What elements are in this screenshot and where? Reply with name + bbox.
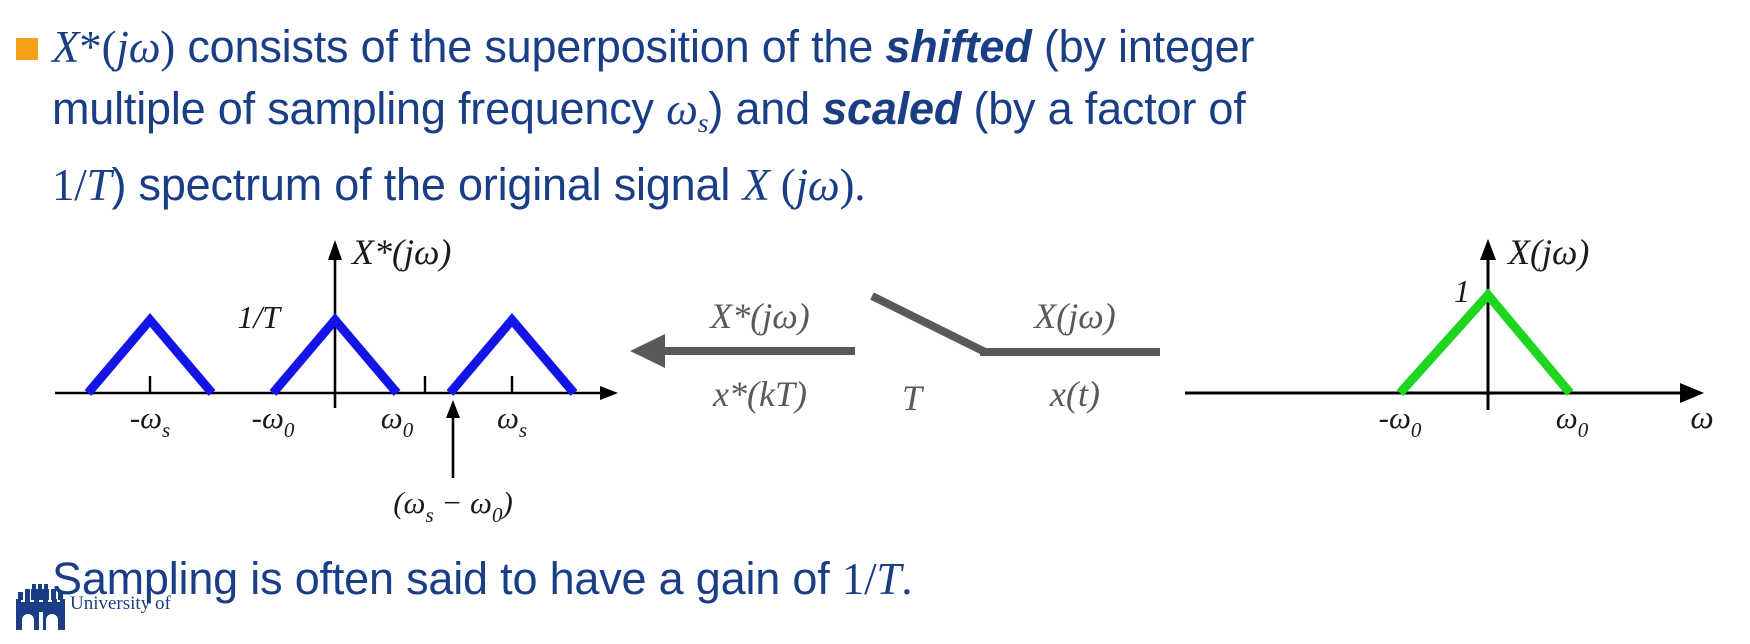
sym-close-paren: ): [160, 22, 175, 72]
sampler-left-arrow-upper-label: X*(jω): [708, 296, 809, 336]
sym-omega-s: ω: [666, 84, 698, 134]
sym-X: X: [742, 160, 769, 210]
sym-close-paren-2: ).: [839, 160, 865, 210]
left-chart-label-minus-w0: -ω0: [252, 400, 295, 442]
text-multiple-of-sampling: multiple of sampling frequency: [52, 83, 666, 134]
right-chart-label-w0: ω0: [1556, 400, 1589, 442]
text-spectrum-original: ) spectrum of the original signal: [111, 159, 742, 210]
right-chart-y-axis-arrowhead: [1480, 239, 1496, 260]
right-chart-peak-label: 1: [1454, 273, 1470, 309]
left-chart-label-w0: ω0: [381, 400, 414, 442]
left-chart-annotation-label: (ωs − ω0): [393, 485, 513, 527]
sym-period: .: [901, 554, 912, 604]
sym-open-paren-2: (: [770, 160, 796, 210]
left-chart-label-minus-ws: -ωs: [130, 400, 170, 442]
text-and: ) and: [708, 83, 822, 134]
sym-T: T: [87, 160, 112, 210]
bullet-marker-icon: [16, 38, 38, 60]
left-chart-axis-title: X*(jω): [350, 232, 451, 272]
university-crest-icon: [12, 578, 72, 638]
bullet-gain: Sampling is often said to have a gain of…: [8, 548, 1738, 610]
right-chart-label-minus-w0: -ω0: [1379, 400, 1422, 442]
sampler-switch-blade: [872, 296, 985, 352]
slide-canvas: X*(jω) consists of the superposition of …: [0, 0, 1750, 644]
left-chart-label-ws: ωs: [497, 400, 527, 442]
sampler-left-arrow-lower-label: x*(kT): [712, 374, 807, 414]
sampler-right-arrow-lower-label: x(t): [1049, 374, 1100, 414]
university-logo: University of: [12, 578, 182, 644]
sym-one-over-2: 1/: [842, 554, 877, 604]
sym-T-2: T: [876, 554, 901, 604]
right-chart-axis-label-omega: ω: [1690, 400, 1713, 436]
bullet-main-line-3: 1/T) spectrum of the original signal X (…: [52, 154, 1738, 216]
text-consists-of: consists of the superposition of the: [175, 21, 885, 72]
sym-omega: ω: [129, 22, 161, 72]
sym-omega-s-subscript: s: [698, 108, 709, 139]
sampler-right-arrow-upper-label: X(jω): [1032, 296, 1115, 336]
text-shifted-emphasis: shifted: [885, 21, 1031, 72]
text-by-integer: (by integer: [1032, 21, 1255, 72]
left-chart-x-axis-arrowhead: [600, 386, 618, 400]
left-chart-y-axis-arrowhead: [328, 240, 342, 260]
chart-original-spectrum: X(jω) 1 -ω0 ω0 ω: [1185, 232, 1714, 442]
bullet-gain-line-1: Sampling is often said to have a gain of…: [52, 548, 1738, 610]
sym-star-paren: *(: [79, 22, 116, 72]
sampling-spectra-diagram: X*(jω) 1/T -ωs -ω0 ω0 ωs: [0, 228, 1750, 528]
sym-X-star: X: [52, 22, 79, 72]
bullet-main-line-2: multiple of sampling frequency ωs) and s…: [52, 78, 1738, 154]
right-chart-axis-title: X(jω): [1506, 232, 1589, 272]
university-logo-line-1: University of: [70, 594, 171, 614]
sampler-flow-diagram: X*(jω) x*(kT) T X(jω) x(t): [630, 296, 1160, 418]
chart-sampled-spectrum: X*(jω) 1/T -ωs -ω0 ω0 ωs: [55, 232, 618, 527]
sym-omega-2: ω: [808, 160, 840, 210]
bullet-main-line-1: X*(jω) consists of the superposition of …: [52, 16, 1738, 78]
right-chart-triangle-baseband: [1400, 295, 1570, 393]
sampler-left-arrowhead: [630, 334, 665, 368]
text-scaled-emphasis: scaled: [822, 83, 961, 134]
sampler-period-label: T: [902, 378, 925, 418]
sym-j: j: [116, 22, 128, 72]
university-logo-text: University of: [70, 594, 171, 614]
sym-one-over: 1/: [52, 160, 87, 210]
bullet-gain-text: Sampling is often said to have a gain of…: [52, 548, 1738, 610]
left-chart-annotation-arrowhead: [446, 400, 460, 418]
bullet-main-text: X*(jω) consists of the superposition of …: [52, 16, 1738, 216]
sym-j-2: j: [796, 160, 808, 210]
bullet-main: X*(jω) consists of the superposition of …: [8, 16, 1738, 216]
text-by-a-factor-of: (by a factor of: [961, 83, 1245, 134]
left-chart-peak-label: 1/T: [237, 299, 282, 335]
